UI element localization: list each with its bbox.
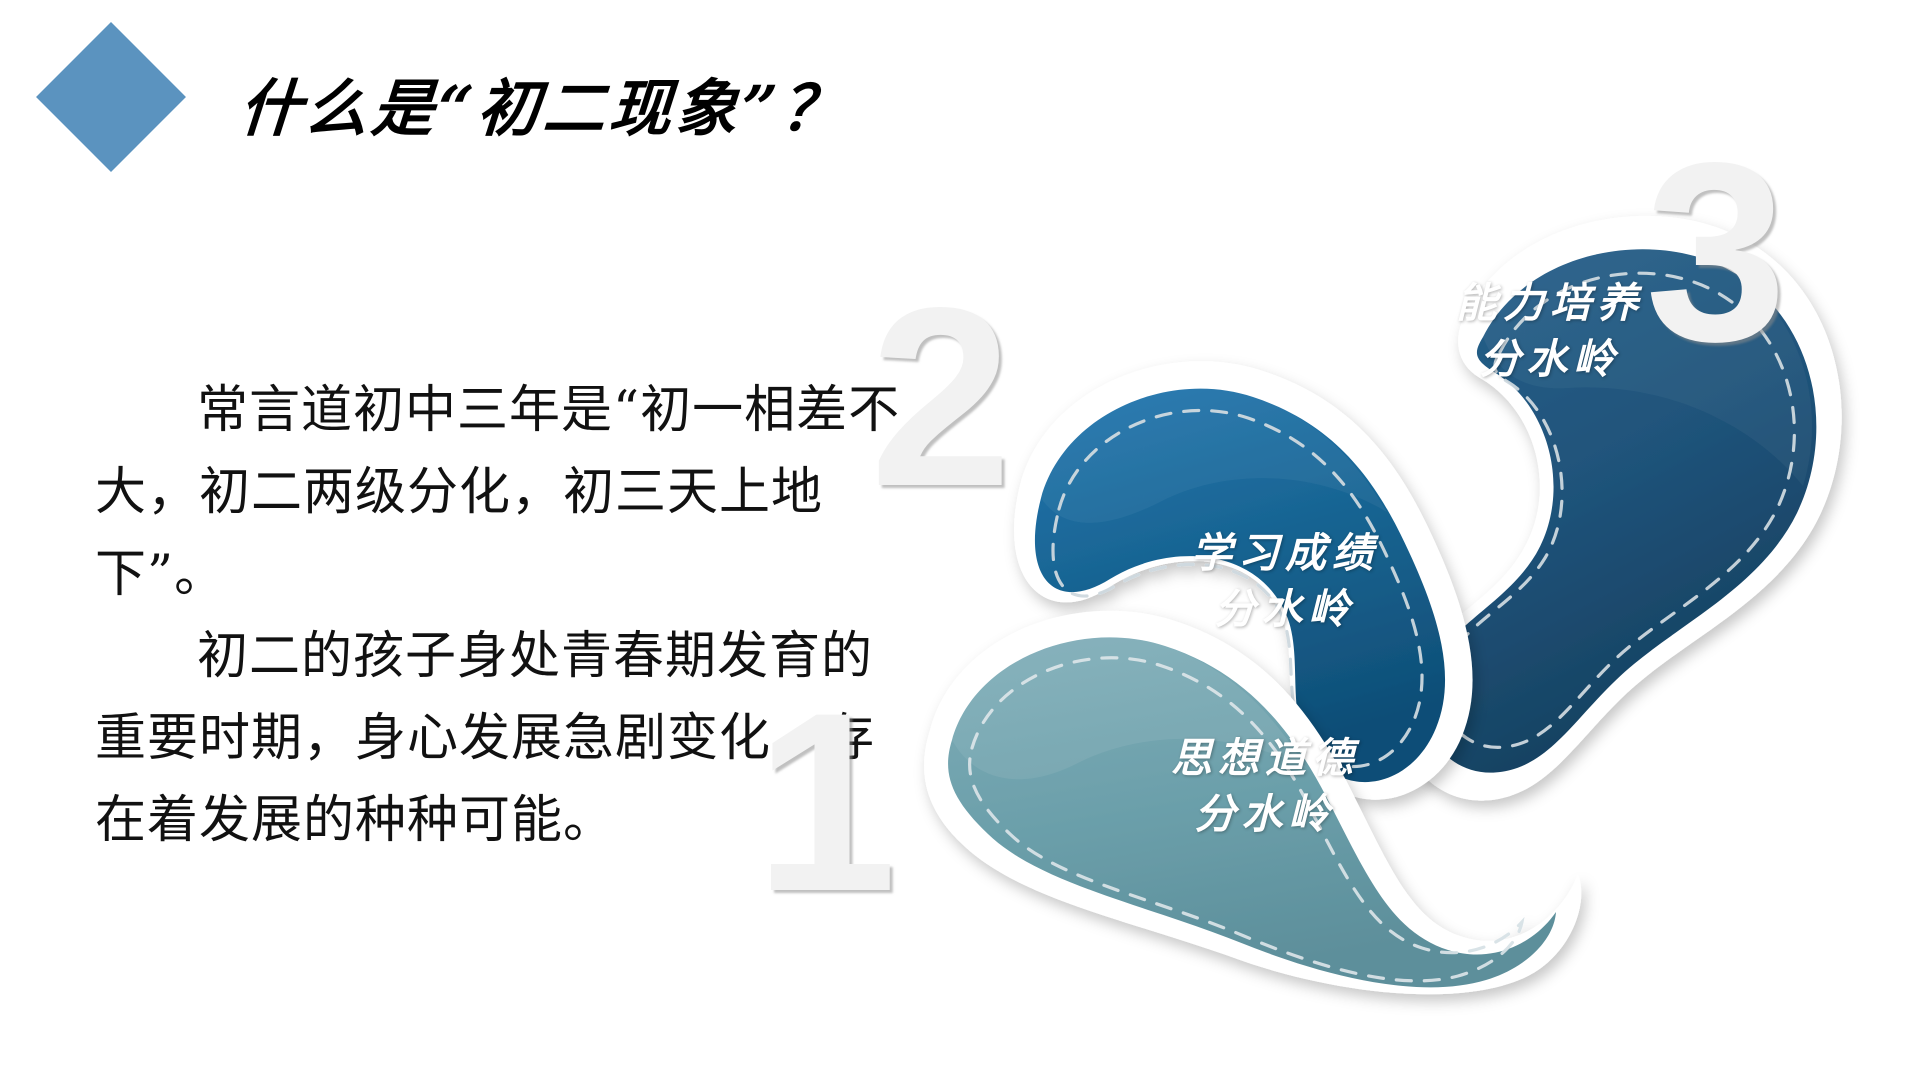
teardrop-3-label: 能力培养 分水岭 <box>1390 275 1710 387</box>
teardrop-1-label: 思想道德 分水岭 <box>1115 730 1415 842</box>
numeral-1: 1 <box>755 675 897 930</box>
teardrop-2-label: 学习成绩 分水岭 <box>1135 525 1435 637</box>
numeral-2: 2 <box>870 270 1012 525</box>
slide-canvas: 什么是“初二现象”？ 常言道初中三年是“初一相差不大，初二两级分化，初三天上地下… <box>0 0 1920 1080</box>
teardrop-diagram: 3 2 1 <box>900 120 1920 1020</box>
diamond-icon <box>36 22 186 172</box>
body-paragraph-1: 常言道初中三年是“初一相差不大，初二两级分化，初三天上地下”。 <box>95 370 905 616</box>
page-title: 什么是“初二现象”？ <box>237 58 851 148</box>
